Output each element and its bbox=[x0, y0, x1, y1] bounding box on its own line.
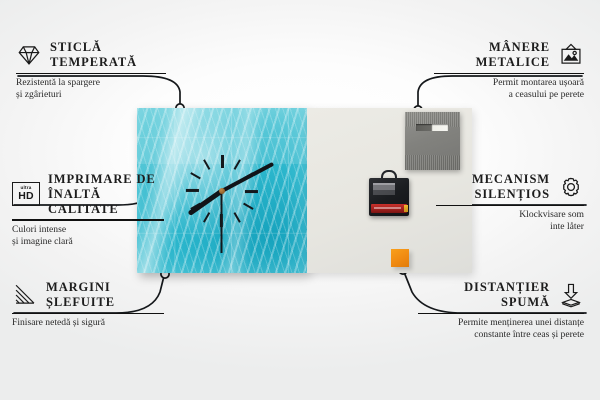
feature-title: MÂNERE METALICE bbox=[476, 40, 550, 70]
battery-stripe bbox=[374, 207, 401, 209]
feature-divider bbox=[16, 73, 166, 75]
feature-metal-hangers: MÂNERE METALICE Permit montarea ușoară a… bbox=[434, 40, 584, 102]
movement-label-print bbox=[373, 183, 395, 197]
quartz-movement-photo bbox=[369, 170, 409, 216]
battery bbox=[371, 204, 407, 213]
feature-divider bbox=[434, 73, 584, 75]
feature-polished-edges: MARGINI ȘLEFUITE Finisare netedă și sigu… bbox=[12, 280, 164, 329]
hd-badge-big-label: HD bbox=[18, 191, 34, 202]
diamond-icon bbox=[16, 42, 42, 68]
feature-divider bbox=[12, 219, 164, 221]
press-down-pad-icon bbox=[558, 282, 584, 308]
feature-title: MARGINI ȘLEFUITE bbox=[46, 280, 115, 310]
feature-silent-mechanism: MECANISM SILENȚIOS Klockvisare som inte … bbox=[436, 172, 584, 234]
feature-divider bbox=[418, 313, 584, 315]
feature-description: Culori intense și imagine clară bbox=[12, 224, 164, 249]
gear-icon bbox=[558, 174, 584, 200]
feature-foam-spacer: DISTANȚIER SPUMĂ Permite menținerea unei… bbox=[418, 280, 584, 342]
feature-description: Klockvisare som inte låter bbox=[436, 209, 584, 234]
picture-frame-icon bbox=[558, 42, 584, 68]
feature-title: IMPRIMARE DE ÎNALTĂ CALITATE bbox=[48, 172, 164, 216]
feature-high-quality-print: ultra HD IMPRIMARE DE ÎNALTĂ CALITATE Cu… bbox=[12, 172, 164, 249]
feature-title: DISTANȚIER SPUMĂ bbox=[464, 280, 550, 310]
metal-hanger-plate-photo bbox=[405, 112, 460, 170]
feature-divider bbox=[12, 313, 164, 315]
feature-description: Finisare netedă și sigură bbox=[12, 317, 164, 329]
foam-spacer-photo bbox=[391, 249, 409, 267]
movement-housing bbox=[369, 178, 409, 216]
infographic-canvas: STICLĂ TEMPERATĂ Rezistentă la spargere … bbox=[0, 0, 600, 400]
feature-title: STICLĂ TEMPERATĂ bbox=[50, 40, 137, 70]
ultra-hd-icon: ultra HD bbox=[12, 182, 40, 206]
feature-description: Permit montarea ușoară a ceasului pe per… bbox=[434, 77, 584, 102]
clock-center-pin bbox=[219, 188, 225, 194]
feature-title: MECANISM SILENȚIOS bbox=[472, 172, 550, 202]
beveled-edge-icon bbox=[12, 282, 38, 308]
feature-tempered-glass: STICLĂ TEMPERATĂ Rezistentă la spargere … bbox=[16, 40, 166, 102]
feature-divider bbox=[436, 205, 584, 207]
feature-description: Rezistentă la spargere și zgârieturi bbox=[16, 77, 166, 102]
hanger-slot bbox=[416, 124, 448, 130]
feature-description: Permite menținerea unei distanțe constan… bbox=[418, 317, 584, 342]
